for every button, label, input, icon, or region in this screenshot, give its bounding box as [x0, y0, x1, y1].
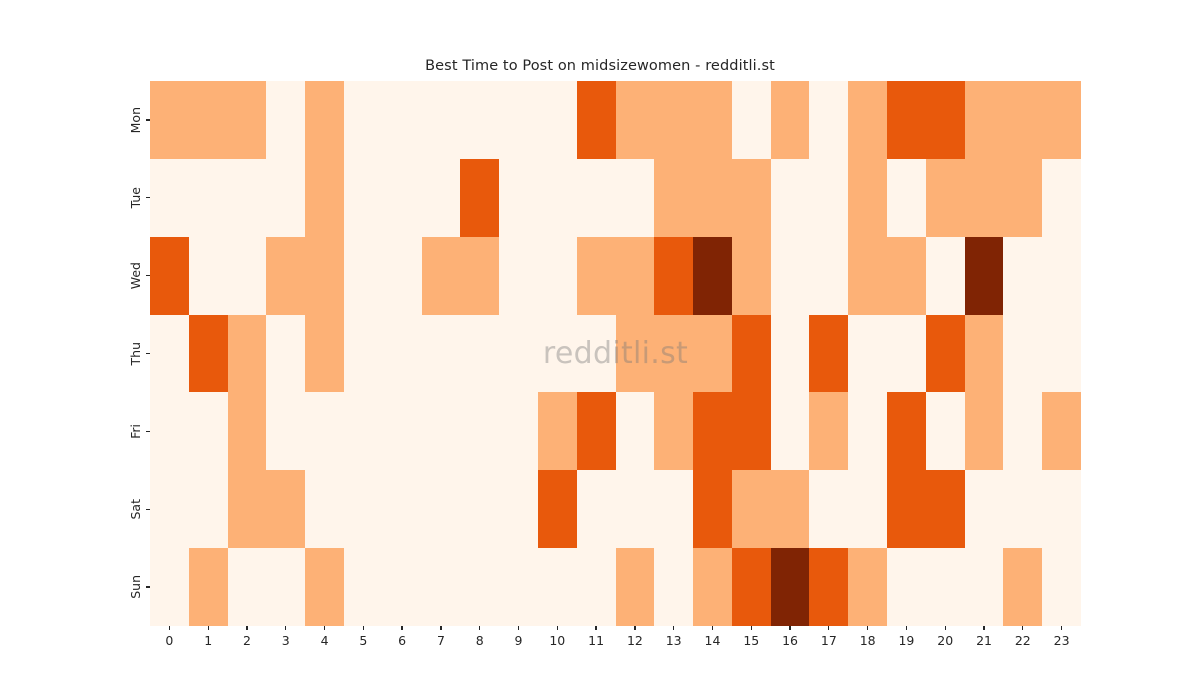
- heatmap-cell: [848, 237, 887, 315]
- heatmap-cell: [305, 81, 344, 159]
- y-tick-label: Fri: [129, 424, 143, 439]
- x-tick-mark: [285, 626, 286, 630]
- heatmap-cell: [422, 237, 461, 315]
- heatmap-cell: [1042, 392, 1081, 470]
- x-tick-1: 1: [189, 626, 228, 648]
- heatmap-cell: [965, 548, 1004, 626]
- heatmap-grid: [150, 81, 1081, 626]
- heatmap-cell: [577, 548, 616, 626]
- heatmap-cell: [344, 315, 383, 393]
- heatmap-cell: [228, 315, 267, 393]
- x-tick-23: 23: [1042, 626, 1081, 648]
- heatmap-cell: [771, 315, 810, 393]
- x-tick-mark: [324, 626, 325, 630]
- heatmap-cell: [732, 159, 771, 237]
- heatmap-cell: [654, 392, 693, 470]
- x-tick-mark: [595, 626, 596, 630]
- x-tick-4: 4: [305, 626, 344, 648]
- heatmap-cell: [344, 392, 383, 470]
- heatmap-cell: [266, 548, 305, 626]
- x-tick-label: 11: [588, 635, 604, 648]
- heatmap-cell: [732, 548, 771, 626]
- heatmap-cell: [693, 392, 732, 470]
- y-tick-sun: Sun: [0, 548, 150, 626]
- x-tick-2: 2: [228, 626, 267, 648]
- heatmap-cell: [383, 81, 422, 159]
- heatmap-cell: [732, 392, 771, 470]
- heatmap-cell: [460, 237, 499, 315]
- heatmap-cell: [965, 392, 1004, 470]
- y-tick-sat: Sat: [0, 470, 150, 548]
- heatmap-cell: [305, 315, 344, 393]
- heatmap-cell: [499, 159, 538, 237]
- heatmap-cell: [926, 315, 965, 393]
- x-tick-label: 0: [165, 635, 173, 648]
- heatmap-cell: [538, 237, 577, 315]
- heatmap-cell: [150, 81, 189, 159]
- x-tick-label: 6: [398, 635, 406, 648]
- x-tick-19: 19: [887, 626, 926, 648]
- heatmap-cell: [1003, 81, 1042, 159]
- x-tick-7: 7: [422, 626, 461, 648]
- x-tick-20: 20: [926, 626, 965, 648]
- heatmap-cell: [538, 159, 577, 237]
- x-tick-6: 6: [383, 626, 422, 648]
- heatmap-cell: [848, 81, 887, 159]
- heatmap-cell: [693, 81, 732, 159]
- heatmap-cell: [887, 81, 926, 159]
- x-tick-mark: [867, 626, 868, 630]
- heatmap-cell: [266, 392, 305, 470]
- heatmap-cell: [1042, 315, 1081, 393]
- heatmap-cell: [771, 81, 810, 159]
- heatmap-cell: [344, 81, 383, 159]
- heatmap-cell: [809, 548, 848, 626]
- x-tick-mark: [518, 626, 519, 630]
- heatmap-cell: [809, 237, 848, 315]
- heatmap-cell: [616, 548, 655, 626]
- heatmap-cell: [693, 315, 732, 393]
- heatmap-cell: [460, 315, 499, 393]
- heatmap-cell: [693, 470, 732, 548]
- heatmap-cell: [616, 315, 655, 393]
- x-tick-17: 17: [809, 626, 848, 648]
- heatmap-cell: [228, 548, 267, 626]
- x-tick-label: 19: [898, 635, 914, 648]
- heatmap-cell: [1003, 315, 1042, 393]
- x-tick-label: 1: [204, 635, 212, 648]
- heatmap-cell: [926, 159, 965, 237]
- heatmap-cell: [344, 159, 383, 237]
- heatmap-cell: [965, 81, 1004, 159]
- heatmap-figure: Best Time to Post on midsizewomen - redd…: [0, 0, 1200, 700]
- x-tick-mark: [751, 626, 752, 630]
- heatmap-cell: [460, 81, 499, 159]
- x-tick-mark: [945, 626, 946, 630]
- heatmap-cell: [383, 237, 422, 315]
- y-tick-label: Mon: [129, 107, 143, 133]
- heatmap-cell: [1042, 159, 1081, 237]
- heatmap-cell: [422, 392, 461, 470]
- heatmap-cell: [926, 548, 965, 626]
- heatmap-cell: [926, 470, 965, 548]
- x-tick-label: 18: [860, 635, 876, 648]
- heatmap-cell: [577, 470, 616, 548]
- heatmap-cell: [305, 159, 344, 237]
- x-tick-label: 22: [1015, 635, 1031, 648]
- heatmap-cell: [732, 315, 771, 393]
- heatmap-cell: [577, 392, 616, 470]
- heatmap-cell: [809, 81, 848, 159]
- heatmap-cell: [848, 159, 887, 237]
- heatmap-cell: [460, 392, 499, 470]
- x-tick-mark: [906, 626, 907, 630]
- heatmap-cell: [965, 470, 1004, 548]
- heatmap-cell: [1042, 548, 1081, 626]
- heatmap-cell: [189, 392, 228, 470]
- heatmap-cell: [732, 470, 771, 548]
- x-tick-label: 13: [666, 635, 682, 648]
- x-tick-0: 0: [150, 626, 189, 648]
- heatmap-cell: [150, 237, 189, 315]
- heatmap-cell: [577, 81, 616, 159]
- heatmap-cell: [732, 81, 771, 159]
- heatmap-cell: [305, 470, 344, 548]
- heatmap-cell: [965, 159, 1004, 237]
- heatmap-cell: [305, 392, 344, 470]
- heatmap-cell: [965, 237, 1004, 315]
- x-tick-12: 12: [616, 626, 655, 648]
- x-tick-10: 10: [538, 626, 577, 648]
- heatmap-cell: [538, 470, 577, 548]
- page-title: Best Time to Post on midsizewomen - redd…: [0, 58, 1200, 74]
- heatmap-cell: [887, 159, 926, 237]
- heatmap-cell: [654, 237, 693, 315]
- heatmap-cell: [422, 315, 461, 393]
- heatmap-cell: [150, 159, 189, 237]
- heatmap-cell: [771, 548, 810, 626]
- heatmap-cell: [460, 159, 499, 237]
- heatmap-cell: [189, 159, 228, 237]
- heatmap-cell: [848, 548, 887, 626]
- heatmap-cell: [1042, 237, 1081, 315]
- x-tick-18: 18: [848, 626, 887, 648]
- heatmap-cell: [887, 315, 926, 393]
- x-tick-label: 14: [705, 635, 721, 648]
- heatmap-cell: [771, 237, 810, 315]
- heatmap-cell: [887, 392, 926, 470]
- heatmap-cell: [654, 315, 693, 393]
- heatmap-cell: [771, 470, 810, 548]
- heatmap-cell: [926, 392, 965, 470]
- x-tick-label: 16: [782, 635, 798, 648]
- heatmap-cell: [383, 548, 422, 626]
- heatmap-cell: [848, 392, 887, 470]
- x-tick-label: 8: [476, 635, 484, 648]
- x-tick-mark: [1061, 626, 1062, 630]
- x-tick-mark: [828, 626, 829, 630]
- x-tick-mark: [789, 626, 790, 630]
- heatmap-cell: [538, 315, 577, 393]
- heatmap-cell: [189, 81, 228, 159]
- heatmap-cell: [422, 548, 461, 626]
- heatmap-cell: [809, 392, 848, 470]
- heatmap-cell: [189, 315, 228, 393]
- x-tick-mark: [440, 626, 441, 630]
- heatmap-cell: [616, 237, 655, 315]
- heatmap-cell: [693, 237, 732, 315]
- x-tick-5: 5: [344, 626, 383, 648]
- y-tick-label: Tue: [129, 187, 143, 208]
- heatmap-cell: [189, 237, 228, 315]
- heatmap-cell: [809, 470, 848, 548]
- heatmap-cell: [577, 315, 616, 393]
- heatmap-cell: [266, 159, 305, 237]
- heatmap-cell: [965, 315, 1004, 393]
- x-tick-13: 13: [654, 626, 693, 648]
- heatmap-cell: [1003, 392, 1042, 470]
- x-tick-11: 11: [577, 626, 616, 648]
- heatmap-cell: [499, 470, 538, 548]
- y-tick-mon: Mon: [0, 81, 150, 159]
- heatmap-cell: [344, 237, 383, 315]
- heatmap-cell: [809, 315, 848, 393]
- heatmap-cell: [266, 81, 305, 159]
- heatmap-cell: [809, 159, 848, 237]
- heatmap-cell: [383, 392, 422, 470]
- heatmap-cell: [460, 470, 499, 548]
- x-tick-9: 9: [499, 626, 538, 648]
- heatmap-cell: [228, 159, 267, 237]
- heatmap-cell: [577, 237, 616, 315]
- x-tick-label: 7: [437, 635, 445, 648]
- heatmap-cell: [654, 548, 693, 626]
- heatmap-cell: [228, 392, 267, 470]
- x-tick-label: 4: [321, 635, 329, 648]
- heatmap-cell: [616, 81, 655, 159]
- heatmap-cell: [266, 470, 305, 548]
- heatmap-cell: [693, 159, 732, 237]
- heatmap-cell: [1003, 548, 1042, 626]
- x-axis: 01234567891011121314151617181920212223: [150, 626, 1081, 666]
- x-tick-label: 2: [243, 635, 251, 648]
- y-axis: MonTueWedThuFriSatSun: [0, 81, 150, 626]
- heatmap-cell: [499, 237, 538, 315]
- x-tick-label: 5: [359, 635, 367, 648]
- heatmap-cell: [654, 470, 693, 548]
- heatmap-cell: [383, 315, 422, 393]
- x-tick-label: 9: [515, 635, 523, 648]
- heatmap-cell: [189, 470, 228, 548]
- x-tick-22: 22: [1003, 626, 1042, 648]
- heatmap-cell: [228, 81, 267, 159]
- heatmap-cell: [771, 159, 810, 237]
- heatmap-cell: [499, 81, 538, 159]
- heatmap-cell: [848, 470, 887, 548]
- heatmap-cell: [499, 548, 538, 626]
- heatmap-cell: [887, 237, 926, 315]
- heatmap-cell: [538, 392, 577, 470]
- x-tick-3: 3: [266, 626, 305, 648]
- heatmap-cell: [577, 159, 616, 237]
- y-tick-fri: Fri: [0, 392, 150, 470]
- y-tick-thu: Thu: [0, 315, 150, 393]
- heatmap-cell: [616, 470, 655, 548]
- heatmap-cell: [150, 392, 189, 470]
- heatmap-cell: [1042, 470, 1081, 548]
- y-tick-tue: Tue: [0, 159, 150, 237]
- x-tick-label: 23: [1054, 635, 1070, 648]
- heatmap-cell: [499, 392, 538, 470]
- x-tick-label: 20: [937, 635, 953, 648]
- heatmap-cell: [228, 237, 267, 315]
- x-tick-mark: [363, 626, 364, 630]
- heatmap-cell: [344, 548, 383, 626]
- plot-area: redditli.st: [150, 81, 1081, 626]
- heatmap-cell: [150, 548, 189, 626]
- heatmap-cell: [266, 315, 305, 393]
- heatmap-cell: [771, 392, 810, 470]
- x-tick-mark: [712, 626, 713, 630]
- y-tick-wed: Wed: [0, 237, 150, 315]
- heatmap-cell: [616, 392, 655, 470]
- heatmap-cell: [1003, 159, 1042, 237]
- heatmap-cell: [538, 81, 577, 159]
- heatmap-cell: [1003, 237, 1042, 315]
- heatmap-cell: [693, 548, 732, 626]
- y-tick-label: Thu: [129, 342, 143, 365]
- heatmap-cell: [499, 315, 538, 393]
- heatmap-cell: [848, 315, 887, 393]
- x-tick-mark: [1022, 626, 1023, 630]
- y-tick-label: Wed: [129, 262, 143, 289]
- heatmap-cell: [150, 315, 189, 393]
- heatmap-cell: [887, 470, 926, 548]
- y-tick-label: Sat: [129, 499, 143, 520]
- heatmap-cell: [654, 159, 693, 237]
- x-tick-label: 10: [549, 635, 565, 648]
- x-tick-label: 12: [627, 635, 643, 648]
- heatmap-cell: [422, 159, 461, 237]
- heatmap-cell: [926, 81, 965, 159]
- x-tick-21: 21: [965, 626, 1004, 648]
- heatmap-cell: [616, 159, 655, 237]
- heatmap-cell: [732, 237, 771, 315]
- x-tick-mark: [983, 626, 984, 630]
- x-tick-label: 3: [282, 635, 290, 648]
- x-tick-mark: [479, 626, 480, 630]
- heatmap-cell: [266, 237, 305, 315]
- heatmap-cell: [887, 548, 926, 626]
- heatmap-cell: [926, 237, 965, 315]
- heatmap-cell: [228, 470, 267, 548]
- x-tick-mark: [673, 626, 674, 630]
- x-tick-mark: [401, 626, 402, 630]
- x-tick-8: 8: [460, 626, 499, 648]
- heatmap-cell: [150, 470, 189, 548]
- heatmap-cell: [383, 470, 422, 548]
- heatmap-cell: [538, 548, 577, 626]
- y-tick-label: Sun: [129, 575, 143, 599]
- heatmap-cell: [654, 81, 693, 159]
- heatmap-cell: [383, 159, 422, 237]
- x-tick-mark: [169, 626, 170, 630]
- x-tick-14: 14: [693, 626, 732, 648]
- x-tick-label: 21: [976, 635, 992, 648]
- heatmap-cell: [1042, 81, 1081, 159]
- x-tick-label: 15: [743, 635, 759, 648]
- x-tick-15: 15: [732, 626, 771, 648]
- heatmap-cell: [305, 548, 344, 626]
- x-tick-mark: [634, 626, 635, 630]
- heatmap-cell: [422, 470, 461, 548]
- x-tick-mark: [246, 626, 247, 630]
- heatmap-cell: [1003, 470, 1042, 548]
- heatmap-cell: [422, 81, 461, 159]
- x-tick-16: 16: [771, 626, 810, 648]
- x-tick-mark: [208, 626, 209, 630]
- x-tick-mark: [557, 626, 558, 630]
- heatmap-cell: [189, 548, 228, 626]
- heatmap-cell: [305, 237, 344, 315]
- heatmap-cell: [460, 548, 499, 626]
- x-tick-label: 17: [821, 635, 837, 648]
- heatmap-cell: [344, 470, 383, 548]
